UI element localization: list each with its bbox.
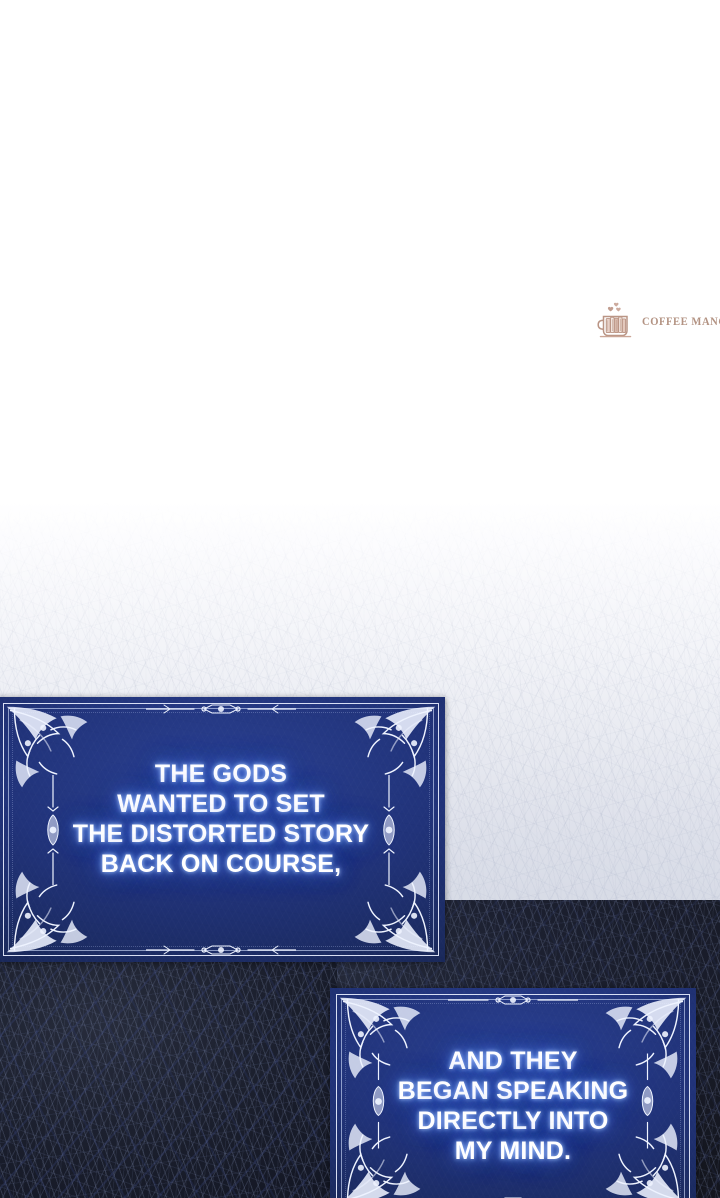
dialogue-line: BEGAN SPEAKING [330, 1076, 696, 1106]
dialogue-line: BACK ON COURSE, [0, 849, 445, 879]
panel-two-dialogue-text: AND THEY BEGAN SPEAKING DIRECTLY INTO MY… [330, 1046, 696, 1166]
corner-flourish-top-left-icon [334, 992, 430, 1088]
panel-dialogue-gods: THE GODS WANTED TO SET THE DISTORTED STO… [0, 697, 445, 962]
edge-medallion-bottom-icon [146, 942, 296, 958]
panel-dialogue-mind: AND THEY BEGAN SPEAKING DIRECTLY INTO MY… [330, 988, 696, 1198]
dialogue-line: THE GODS [0, 759, 445, 789]
watermark-wordmark: COFFEE MANGA [642, 316, 720, 328]
panel-two-frame-hairline [345, 1003, 681, 1198]
edge-medallion-left-icon [370, 1054, 388, 1149]
dialogue-line: WANTED TO SET [0, 789, 445, 819]
panel-three-crackle-layer-b [0, 962, 337, 1198]
coffee-cup-with-books-icon [594, 301, 638, 343]
corner-flourish-top-right-icon [345, 701, 441, 797]
dialogue-line: AND THEY [330, 1046, 696, 1076]
corner-flourish-bottom-right-icon [345, 862, 441, 958]
edge-medallion-right-icon [380, 775, 398, 885]
corner-flourish-top-left-icon [1, 701, 97, 797]
dialogue-line: MY MIND. [330, 1136, 696, 1166]
coffee-manga-watermark: COFFEE MANGA [594, 300, 714, 344]
panel-one-frame-hairline [12, 712, 430, 947]
edge-medallion-right-icon [639, 1054, 657, 1149]
upper-white-background [0, 0, 720, 530]
panel-one-frame-inner [8, 708, 434, 951]
corner-flourish-top-right-icon [596, 992, 692, 1088]
corner-flourish-bottom-left-icon [1, 862, 97, 958]
edge-medallion-bottom-icon [448, 1194, 578, 1198]
panel-two-texture [330, 988, 696, 1198]
panel-two-frame-inner [341, 999, 685, 1198]
panel-one-frame-outer [3, 703, 439, 956]
dialogue-line: THE DISTORTED STORY [0, 819, 445, 849]
panel-one-dialogue-text: THE GODS WANTED TO SET THE DISTORTED STO… [0, 759, 445, 879]
edge-medallion-top-icon [146, 701, 296, 717]
panel-two-frame-outer [336, 994, 690, 1198]
edge-medallion-top-icon [448, 992, 578, 1008]
panel-one-texture [0, 697, 445, 962]
manga-page: THE GODS WANTED TO SET THE DISTORTED STO… [0, 0, 720, 1198]
edge-medallion-left-icon [44, 775, 62, 885]
corner-flourish-bottom-right-icon [596, 1114, 692, 1198]
dialogue-line: DIRECTLY INTO [330, 1106, 696, 1136]
corner-flourish-bottom-left-icon [334, 1114, 430, 1198]
panel-dark-crackle [0, 962, 337, 1198]
